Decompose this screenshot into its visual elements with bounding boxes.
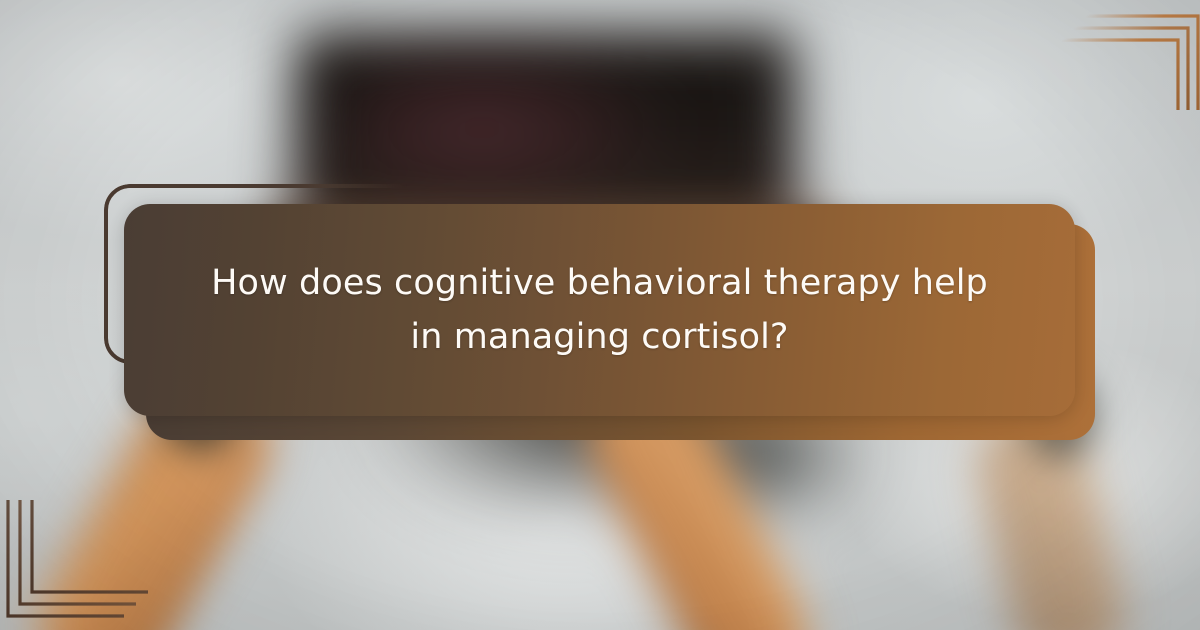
question-card-stack: How does cognitive behavioral therapy he…	[0, 0, 1200, 630]
social-card-canvas: How does cognitive behavioral therapy he…	[0, 0, 1200, 630]
page-title: How does cognitive behavioral therapy he…	[150, 256, 1050, 364]
question-card: How does cognitive behavioral therapy he…	[124, 204, 1075, 416]
